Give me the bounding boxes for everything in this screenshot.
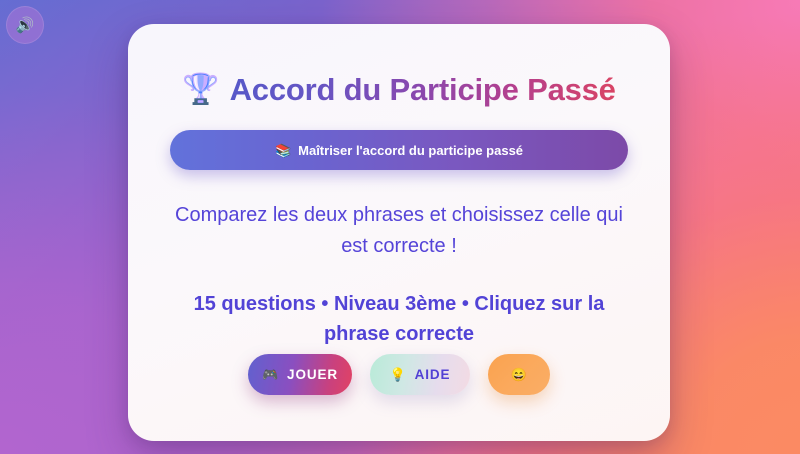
lightbulb-icon: 💡 — [390, 368, 407, 381]
help-button-label: AIDE — [415, 367, 451, 382]
reaction-button[interactable]: 😄 — [488, 354, 550, 395]
help-button[interactable]: 💡 AIDE — [370, 354, 470, 395]
subtitle-banner: 📚 Maîtriser l'accord du participe passé — [170, 130, 628, 170]
page-title: 🏆 Accord du Participe Passé — [170, 72, 628, 108]
trophy-icon: 🏆 — [182, 75, 219, 105]
action-button-row: 🎮 JOUER 💡 AIDE 😄 — [248, 354, 550, 395]
play-button-label: JOUER — [287, 367, 338, 382]
game-intro-card: 🏆 Accord du Participe Passé 📚 Maîtriser … — [128, 24, 670, 441]
page-title-text: Accord du Participe Passé — [230, 72, 616, 108]
sound-icon: 🔊 — [16, 18, 35, 33]
sound-toggle-button[interactable]: 🔊 — [6, 6, 44, 44]
play-button[interactable]: 🎮 JOUER — [248, 354, 352, 395]
subtitle-banner-text: Maîtriser l'accord du participe passé — [298, 143, 523, 158]
grinning-face-icon: 😄 — [510, 368, 527, 381]
instructions-text: Comparez les deux phrases et choisissez … — [170, 200, 628, 262]
books-icon: 📚 — [275, 144, 291, 157]
gamepad-icon: 🎮 — [262, 368, 279, 381]
game-info-text: 15 questions • Niveau 3ème • Cliquez sur… — [170, 289, 628, 349]
